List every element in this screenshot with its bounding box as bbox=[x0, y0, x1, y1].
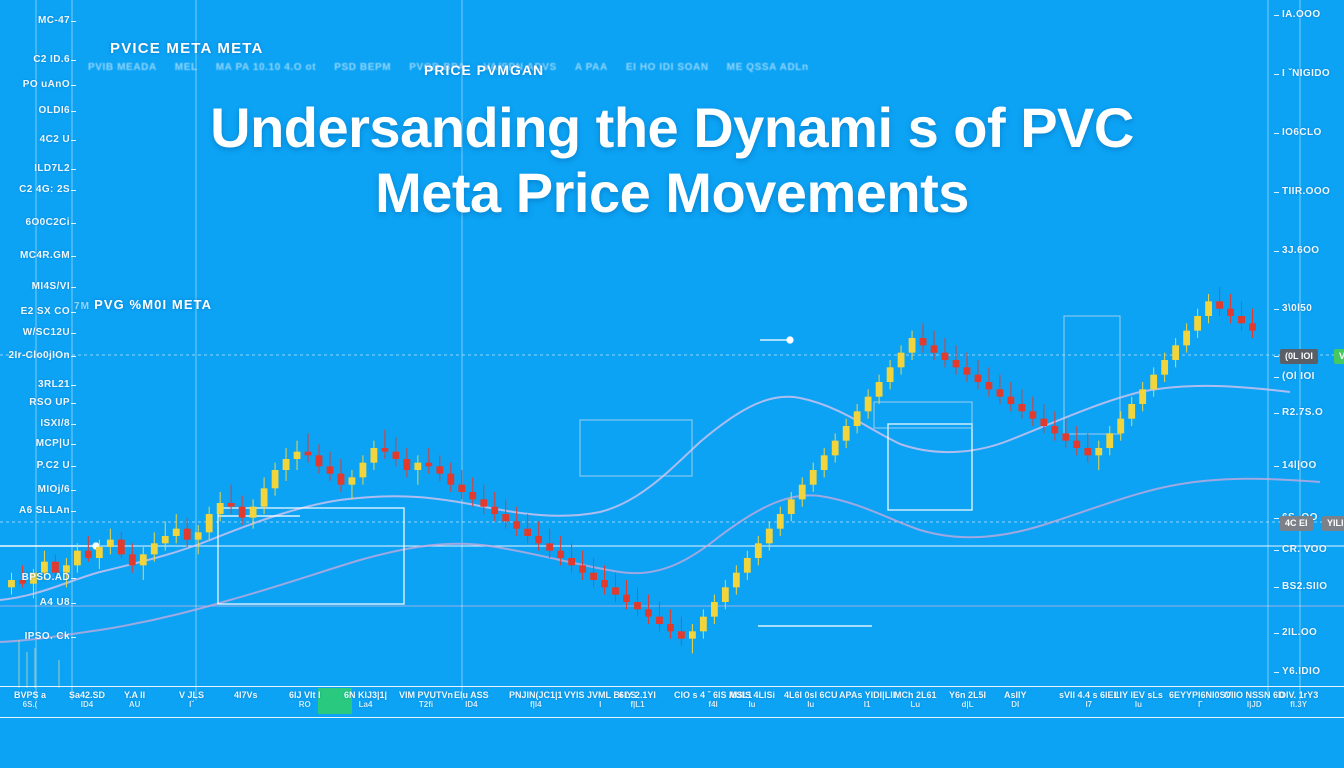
time-label: V JLSIˇ bbox=[179, 690, 204, 709]
candle-body bbox=[1106, 433, 1113, 448]
candle-body bbox=[733, 573, 740, 588]
candle-body bbox=[30, 573, 37, 584]
legend-indicator-item: A PAA bbox=[575, 62, 608, 73]
candle-body bbox=[1095, 448, 1102, 455]
candle-body bbox=[953, 360, 960, 367]
legend-indicator-item: MEL bbox=[175, 62, 198, 73]
candle-body bbox=[151, 543, 158, 554]
time-label: MCh 2L61Lu bbox=[894, 690, 937, 709]
candle-body bbox=[1117, 419, 1124, 434]
candle-body bbox=[568, 558, 575, 565]
legend-indicator-item: EI HO IDI SOAN bbox=[626, 62, 709, 73]
candle-body bbox=[1007, 397, 1014, 404]
candle-body bbox=[173, 529, 180, 536]
candle-body bbox=[458, 485, 465, 492]
candle-body bbox=[546, 543, 553, 550]
time-label: BVPS a6S.( bbox=[14, 690, 46, 709]
candle-body bbox=[1040, 419, 1047, 426]
time-axis-bottom-rule bbox=[0, 717, 1344, 718]
candle-body bbox=[623, 595, 630, 602]
candle-body bbox=[942, 353, 949, 360]
candle-body bbox=[338, 474, 345, 485]
candle-body bbox=[865, 397, 872, 412]
legend-indicator-item: ME QSSA ADLn bbox=[727, 62, 809, 73]
legend-indicator-item: MA PA 10.10 4.O ot bbox=[216, 62, 316, 73]
candle-body bbox=[964, 367, 971, 374]
candle-body bbox=[997, 389, 1004, 396]
candle-body bbox=[1051, 426, 1058, 433]
legend-symbol-title: PVICE META META bbox=[110, 40, 264, 57]
candle-body bbox=[1161, 360, 1168, 375]
candle-body bbox=[1194, 316, 1201, 331]
candle-body bbox=[744, 558, 751, 573]
candle-body bbox=[1062, 433, 1069, 440]
legend-indicator-item: PVIB MEADA bbox=[88, 62, 157, 73]
candle-body bbox=[502, 514, 509, 521]
candle-body bbox=[579, 565, 586, 572]
legend-series-prefix: 7M bbox=[74, 301, 90, 312]
candle-body bbox=[327, 466, 334, 473]
candle-body bbox=[513, 521, 520, 528]
candle-body bbox=[206, 514, 213, 532]
candle-body bbox=[656, 617, 663, 624]
candle-body bbox=[1216, 301, 1223, 308]
candle-body bbox=[1227, 309, 1234, 316]
candle-body bbox=[557, 551, 564, 558]
candle-body bbox=[876, 382, 883, 397]
candle-body bbox=[645, 609, 652, 616]
candle-body bbox=[425, 463, 432, 467]
candle-body bbox=[799, 485, 806, 500]
candle-body bbox=[381, 448, 388, 452]
legend-indicator-row: PVIB MEADAMELMA PA 10.10 4.O otPSD BEPMP… bbox=[88, 62, 1088, 80]
candle-body bbox=[722, 587, 729, 602]
candle-body bbox=[755, 543, 762, 558]
candle-body bbox=[612, 587, 619, 594]
volume-bars bbox=[18, 640, 60, 688]
candle-body bbox=[887, 367, 894, 382]
candle-body bbox=[1073, 441, 1080, 448]
candle-body bbox=[305, 452, 312, 456]
candle-body bbox=[678, 631, 685, 638]
time-label: PNJIN(JC1|1f|l4 bbox=[509, 690, 563, 709]
candle-body bbox=[777, 514, 784, 529]
candle-body bbox=[52, 562, 59, 573]
candle-body bbox=[360, 463, 367, 478]
candle-body bbox=[118, 540, 125, 555]
time-label: MSIS 4LISiIu bbox=[729, 690, 775, 709]
candle-body bbox=[403, 459, 410, 470]
candle-body bbox=[1172, 345, 1179, 360]
drawing-annotations-2 bbox=[580, 316, 1120, 476]
candle-body bbox=[854, 411, 861, 426]
candle-body bbox=[63, 565, 70, 572]
time-label: OIV. 1rY3fl.3Y bbox=[1279, 690, 1318, 709]
candle-body bbox=[316, 455, 323, 466]
candle-body bbox=[667, 624, 674, 631]
candle-body bbox=[217, 503, 224, 514]
chart-image: MC-47C2 ID.6PO uAnOOLDI64C2 UILD7L2C2 4G… bbox=[0, 0, 1344, 768]
candle-body bbox=[261, 488, 268, 506]
candle-body bbox=[524, 529, 531, 536]
candle-body bbox=[634, 602, 641, 609]
candle-body bbox=[1249, 323, 1256, 330]
time-label: OIIO NSSN 6DI|JD bbox=[1224, 690, 1285, 709]
time-label: 4L6I 0sI 6CUIu bbox=[784, 690, 838, 709]
time-axis-top-rule bbox=[0, 686, 1344, 687]
chart-svg bbox=[0, 0, 1344, 700]
candle-body bbox=[535, 536, 542, 543]
legend-price-label: PRICE PVMGAN bbox=[424, 62, 544, 78]
candle-body bbox=[349, 477, 356, 484]
candle-body bbox=[107, 540, 114, 547]
candle-body bbox=[1183, 331, 1190, 346]
candle-body bbox=[898, 353, 905, 368]
candle-body bbox=[469, 492, 476, 499]
candle-body bbox=[986, 382, 993, 389]
candle-body bbox=[414, 463, 421, 470]
candle-body bbox=[8, 580, 15, 587]
candle-body bbox=[228, 503, 235, 507]
time-label: AsIIYDI bbox=[1004, 690, 1027, 709]
candle-body bbox=[140, 554, 147, 565]
candle-body bbox=[294, 452, 301, 459]
candlestick-series bbox=[8, 287, 1256, 654]
legend-indicator-item: PSD BEPM bbox=[334, 62, 391, 73]
candle-body bbox=[601, 580, 608, 587]
candle-body bbox=[19, 580, 26, 584]
candle-body bbox=[832, 441, 839, 456]
candle-body bbox=[129, 554, 136, 565]
candle-body bbox=[1128, 404, 1135, 419]
legend-series-name: PVG %M0I META bbox=[94, 297, 212, 312]
candle-body bbox=[41, 562, 48, 573]
candle-body bbox=[711, 602, 718, 617]
candle-body bbox=[447, 474, 454, 485]
candle-body bbox=[909, 338, 916, 353]
time-label: EIu ASSID4 bbox=[454, 690, 489, 709]
time-label: 4l7Vs bbox=[234, 690, 258, 700]
candle-body bbox=[184, 529, 191, 540]
time-label: VIM PVUTVnT2fi bbox=[399, 690, 453, 709]
time-label: Y6n 2L5Id|L bbox=[949, 690, 986, 709]
candle-body bbox=[85, 551, 92, 558]
candle-body bbox=[1029, 411, 1036, 418]
candle-body bbox=[480, 499, 487, 506]
candle-body bbox=[250, 507, 257, 518]
candle-body bbox=[689, 631, 696, 638]
candle-body bbox=[1139, 389, 1146, 404]
time-label: LIY IEV sLsIu bbox=[1114, 690, 1163, 709]
candle-body bbox=[371, 448, 378, 463]
grid-vertical bbox=[36, 0, 1300, 700]
time-axis[interactable]: BVPS a6S.(Sa42.SDID4Y.A IIAUV JLSIˇ4l7Vs… bbox=[0, 686, 1344, 718]
time-label: APAs YIDI|LlII1 bbox=[839, 690, 895, 709]
candle-body bbox=[162, 536, 169, 543]
candle-body bbox=[821, 455, 828, 470]
candle-body bbox=[1238, 316, 1245, 323]
time-label: Y.A IIAU bbox=[124, 690, 145, 709]
time-label: 6lJ VIt IRO bbox=[289, 690, 321, 709]
candle-body bbox=[283, 459, 290, 470]
candle-body bbox=[195, 532, 202, 539]
candle-body bbox=[975, 375, 982, 382]
candle-body bbox=[74, 551, 81, 566]
time-label: 6EYYPI6NI0SVГ bbox=[1169, 690, 1232, 709]
candle-body bbox=[700, 617, 707, 632]
candle-body bbox=[788, 499, 795, 514]
time-label: 6IY 2.1YIf|L1 bbox=[619, 690, 656, 709]
candle-body bbox=[920, 338, 927, 345]
candle-body bbox=[1084, 448, 1091, 455]
candle-body bbox=[1150, 375, 1157, 390]
candle-body bbox=[810, 470, 817, 485]
candle-body bbox=[239, 507, 246, 518]
candle-body bbox=[1018, 404, 1025, 411]
candle-body bbox=[436, 466, 443, 473]
drawing-annotations bbox=[0, 337, 972, 626]
candle-body bbox=[766, 529, 773, 544]
candlestick-plot[interactable] bbox=[0, 0, 1344, 700]
time-label: Sa42.SDID4 bbox=[69, 690, 105, 709]
candle-body bbox=[843, 426, 850, 441]
candle-body bbox=[392, 452, 399, 459]
candle-body bbox=[491, 507, 498, 514]
time-label: 6N KIJ3|1|La4 bbox=[344, 690, 387, 709]
candle-body bbox=[590, 573, 597, 580]
candle-body bbox=[96, 547, 103, 558]
time-label: sVII 4.4 s 6lEIII7 bbox=[1059, 690, 1119, 709]
candle-body bbox=[272, 470, 279, 488]
candle-body bbox=[1205, 301, 1212, 316]
candle-body bbox=[931, 345, 938, 352]
legend-series-pvc-meta: 7MPVG %M0I META bbox=[74, 297, 212, 312]
